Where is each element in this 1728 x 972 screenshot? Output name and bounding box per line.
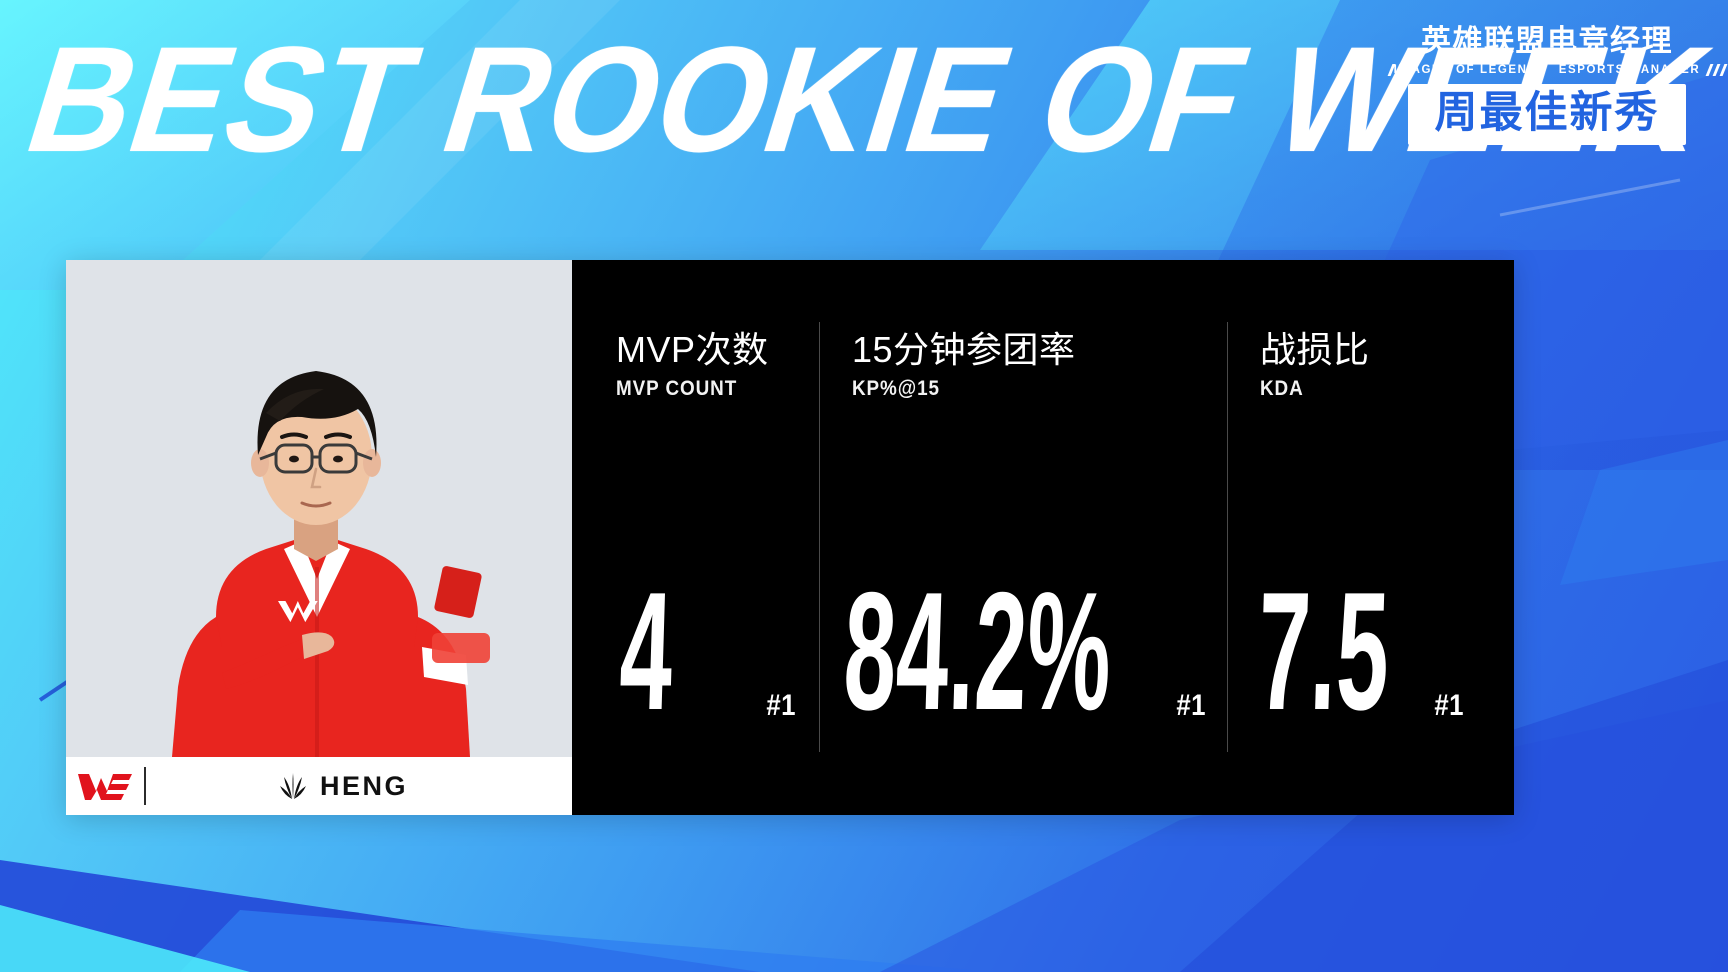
player-identity: HENG bbox=[146, 771, 572, 802]
stat-value-row: 84.2% bbox=[820, 579, 1228, 723]
stat-label-en: MVP COUNT bbox=[616, 377, 753, 401]
stat-value: 84.2% bbox=[842, 579, 1113, 723]
stat-value-row: 7.5 bbox=[1228, 579, 1514, 723]
stat-header: 战损比 KDA bbox=[1260, 328, 1370, 401]
game-title-en-row: LEAGUE OF LEGENDS ESPORTS MANAGER bbox=[1408, 63, 1686, 77]
game-title-en-right: ESPORTS MANAGER bbox=[1559, 64, 1701, 76]
stat-rank-badge: #1 bbox=[1434, 689, 1464, 723]
headline-text: BEST ROOKIE OF WEEK 6 bbox=[8, 10, 1160, 188]
team-logo-container bbox=[66, 757, 144, 815]
game-title-cn: 英雄联盟电竞经理 bbox=[1408, 24, 1686, 60]
stat-rank-badge: #1 bbox=[1176, 689, 1206, 723]
stat-label-en: KDA bbox=[1260, 377, 1359, 401]
jungle-role-icon bbox=[280, 772, 306, 800]
stats-pane: MVP次数 MVP COUNT 4 #1 15分钟参团率 KP%@15 84.2… bbox=[572, 260, 1514, 815]
player-card: HENG MVP次数 MVP COUNT 4 #1 15分钟参团率 bbox=[66, 260, 1514, 815]
headline: BEST ROOKIE OF WEEK 6 bbox=[62, 10, 1242, 200]
award-title-cn: 周最佳新秀 bbox=[1416, 89, 1678, 137]
player-photo-pane: HENG bbox=[66, 260, 572, 815]
stat-column-kda: 战损比 KDA 7.5 #1 bbox=[1228, 260, 1514, 815]
player-portrait bbox=[66, 317, 572, 757]
stat-rank-badge: #1 bbox=[766, 689, 796, 723]
stat-header: MVP次数 MVP COUNT bbox=[616, 328, 769, 401]
stat-value: 4 bbox=[618, 579, 675, 723]
player-name: HENG bbox=[320, 771, 408, 802]
stat-column-kp15: 15分钟参团率 KP%@15 84.2% #1 bbox=[820, 260, 1228, 815]
broadcast-graphic: BEST ROOKIE OF WEEK 6 英雄联盟电竞经理 LEAGUE OF… bbox=[0, 0, 1728, 972]
stat-label-cn: 15分钟参团率 bbox=[852, 328, 1076, 372]
player-name-bar: HENG bbox=[66, 757, 572, 815]
we-team-logo bbox=[77, 769, 133, 803]
brand-lockup: 英雄联盟电竞经理 LEAGUE OF LEGENDS ESPORTS MANAG… bbox=[1408, 24, 1686, 145]
stat-column-mvp-count: MVP次数 MVP COUNT 4 #1 bbox=[572, 260, 820, 815]
stat-label-en: KP%@15 bbox=[852, 377, 1053, 401]
stat-value: 7.5 bbox=[1256, 579, 1391, 723]
stat-header: 15分钟参团率 KP%@15 bbox=[852, 328, 1076, 401]
stat-label-cn: 战损比 bbox=[1260, 328, 1370, 372]
stat-label-cn: MVP次数 bbox=[616, 328, 769, 372]
award-title-plate: 周最佳新秀 bbox=[1408, 84, 1686, 145]
game-title-en-left: LEAGUE OF LEGENDS bbox=[1394, 64, 1547, 76]
